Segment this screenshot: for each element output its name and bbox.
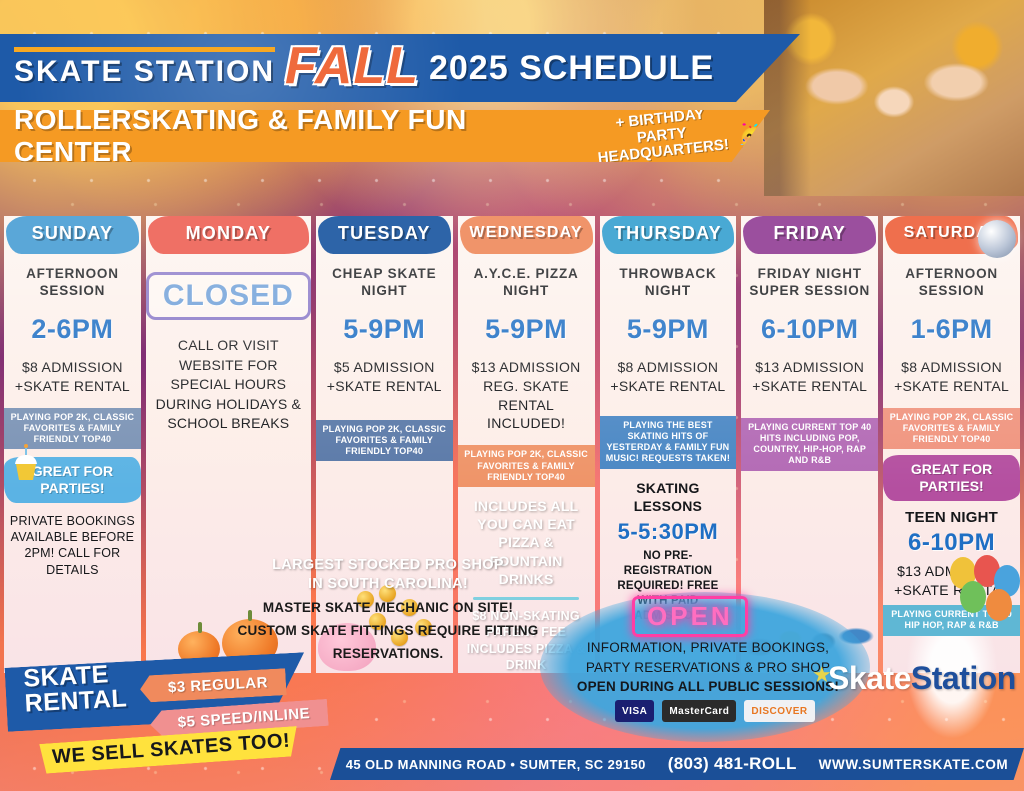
music-banner: PLAYING POP 2K, CLASSIC FAVORITES & FAMI… xyxy=(316,420,453,462)
visa-card-icon: VISA xyxy=(615,700,654,722)
logo-part-1: Skate xyxy=(828,660,911,696)
balloon-icon xyxy=(960,581,986,613)
day-header-friday: FRIDAY xyxy=(741,216,878,250)
session-label: THROWBACKNIGHT xyxy=(615,266,720,300)
cupcake-icon xyxy=(6,444,46,484)
logo-part-2: Station xyxy=(911,660,1016,696)
day-column-sunday: SUNDAY AFTERNOONSESSION 2-6PM $8 ADMISSI… xyxy=(4,216,141,673)
monday-note: CALL OR VISIT WEBSITE FOR SPECIAL HOURS … xyxy=(146,336,311,434)
music-banner: PLAYING THE BEST SKATING HITS OF YESTERD… xyxy=(600,416,737,469)
schedule-grid: SUNDAY AFTERNOONSESSION 2-6PM $8 ADMISSI… xyxy=(4,216,1020,556)
day-name: TUESDAY xyxy=(338,223,431,244)
pro-shop-line-2: IN SOUTH CAROLINA! xyxy=(178,575,598,594)
session-label: CHEAP SKATENIGHT xyxy=(328,266,440,300)
day-header-sunday: SUNDAY xyxy=(4,216,141,250)
day-name: SUNDAY xyxy=(32,223,114,244)
poster-root: SKATE STATION FALL 2025 SCHEDULE ROLLERS… xyxy=(0,0,1024,791)
session-label: AFTERNOONSESSION xyxy=(22,266,123,300)
session-price: $13 ADMISSIONREG. SKATERENTAL INCLUDED! xyxy=(458,358,595,434)
skate-rental-line-2: RENTAL xyxy=(24,684,128,717)
session-time: 2-6PM xyxy=(31,314,113,345)
session-price: $8 ADMISSION+SKATE RENTAL xyxy=(606,358,729,396)
promo-banner: GREAT FORPARTIES! xyxy=(883,455,1020,501)
open-neon-sign: OPEN xyxy=(632,596,748,637)
footer-website[interactable]: WWW.SUMTERSKATE.COM xyxy=(819,757,1009,772)
mastercard-card-icon: MasterCard xyxy=(662,700,736,722)
session-price: $13 ADMISSION+SKATE RENTAL xyxy=(748,358,871,396)
payment-methods: VISA MasterCard DISCOVER xyxy=(615,700,815,722)
schedule-label: 2025 SCHEDULE xyxy=(429,49,714,88)
session-label: AFTERNOONSESSION xyxy=(901,266,1002,300)
header-blue-band: SKATE STATION FALL 2025 SCHEDULE xyxy=(0,34,800,102)
session-time: 5-9PM xyxy=(485,314,567,345)
pro-shop-line-4: CUSTOM SKATE FITTINGS REQUIRE FITTING xyxy=(178,622,598,640)
discover-card-icon: DISCOVER xyxy=(744,700,814,722)
open-line-1: INFORMATION, PRIVATE BOOKINGS, xyxy=(548,638,868,658)
footer-bar: 45 OLD MANNING ROAD • SUMTER, SC 29150 (… xyxy=(330,748,1024,780)
teen-night-time: 6-10PM xyxy=(908,529,995,557)
day-name: WEDNESDAY xyxy=(469,224,582,242)
session-time: 1-6PM xyxy=(911,314,993,345)
day-name: FRIDAY xyxy=(773,223,846,244)
music-banner: PLAYING CURRENT TOP 40 HITS INCLUDING PO… xyxy=(741,418,878,471)
skating-lessons-title: SKATING LESSONS xyxy=(600,479,737,515)
session-label: FRIDAY NIGHTSUPER SESSION xyxy=(745,266,874,300)
pro-shop-line-1: LARGEST STOCKED PRO SHOP xyxy=(178,556,598,575)
skating-lessons-time: 5-5:30PM xyxy=(618,519,719,545)
closed-label: CLOSED xyxy=(163,279,294,312)
day-name: MONDAY xyxy=(186,223,272,244)
day-header-wednesday: WEDNESDAY xyxy=(458,216,595,250)
session-price: $5 ADMISSION+SKATE RENTAL xyxy=(323,358,446,396)
birthday-party-badge: + BIRTHDAY PARTY HEADQUARTERS! xyxy=(590,104,734,168)
pro-shop-block: LARGEST STOCKED PRO SHOP IN SOUTH CAROLI… xyxy=(178,556,598,663)
music-banner: PLAYING POP 2K, CLASSIC FAVORITES & FAMI… xyxy=(458,445,595,487)
session-label: A.Y.C.E. PIZZANIGHT xyxy=(470,266,583,300)
session-price: $8 ADMISSION+SKATE RENTAL xyxy=(890,358,1013,396)
family-photo xyxy=(764,0,1024,196)
day-header-thursday: THURSDAY xyxy=(600,216,737,250)
session-time: 5-9PM xyxy=(343,314,425,345)
skate-rental-title: SKATE RENTAL xyxy=(23,661,128,715)
day-header-monday: MONDAY xyxy=(146,216,311,250)
disco-ball-icon xyxy=(978,220,1016,258)
skate-station-logo: SkateStation xyxy=(828,660,1016,697)
footer-address: 45 OLD MANNING ROAD • SUMTER, SC 29150 xyxy=(346,757,646,772)
footer-phone[interactable]: (803) 481-ROLL xyxy=(668,754,797,774)
season-label: FALL xyxy=(285,43,419,90)
closed-box: CLOSED xyxy=(146,272,311,320)
session-time: 5-9PM xyxy=(627,314,709,345)
header-orange-band: ROLLERSKATING & FAMILY FUN CENTER + BIRT… xyxy=(0,110,770,162)
session-time: 6-10PM xyxy=(761,314,859,345)
day-name: THURSDAY xyxy=(614,223,722,244)
session-price: $8 ADMISSION+SKATE RENTAL xyxy=(11,358,134,396)
day-column-saturday: SATURDAY AFTERNOONSESSION 1-6PM $8 ADMIS… xyxy=(883,216,1020,673)
private-bookings-note: PRIVATE BOOKINGS AVAILABLE BEFORE 2PM! C… xyxy=(4,513,141,578)
subtitle: ROLLERSKATING & FAMILY FUN CENTER xyxy=(14,104,580,168)
brand-name: SKATE STATION xyxy=(14,47,275,89)
balloon-icon xyxy=(986,589,1012,621)
music-banner: PLAYING POP 2K, CLASSIC FAVORITES & FAMI… xyxy=(883,408,1020,450)
day-header-tuesday: TUESDAY xyxy=(316,216,453,250)
teen-night-title: TEEN NIGHT xyxy=(900,508,1003,528)
pro-shop-line-3: MASTER SKATE MECHANIC ON SITE! xyxy=(178,599,598,617)
